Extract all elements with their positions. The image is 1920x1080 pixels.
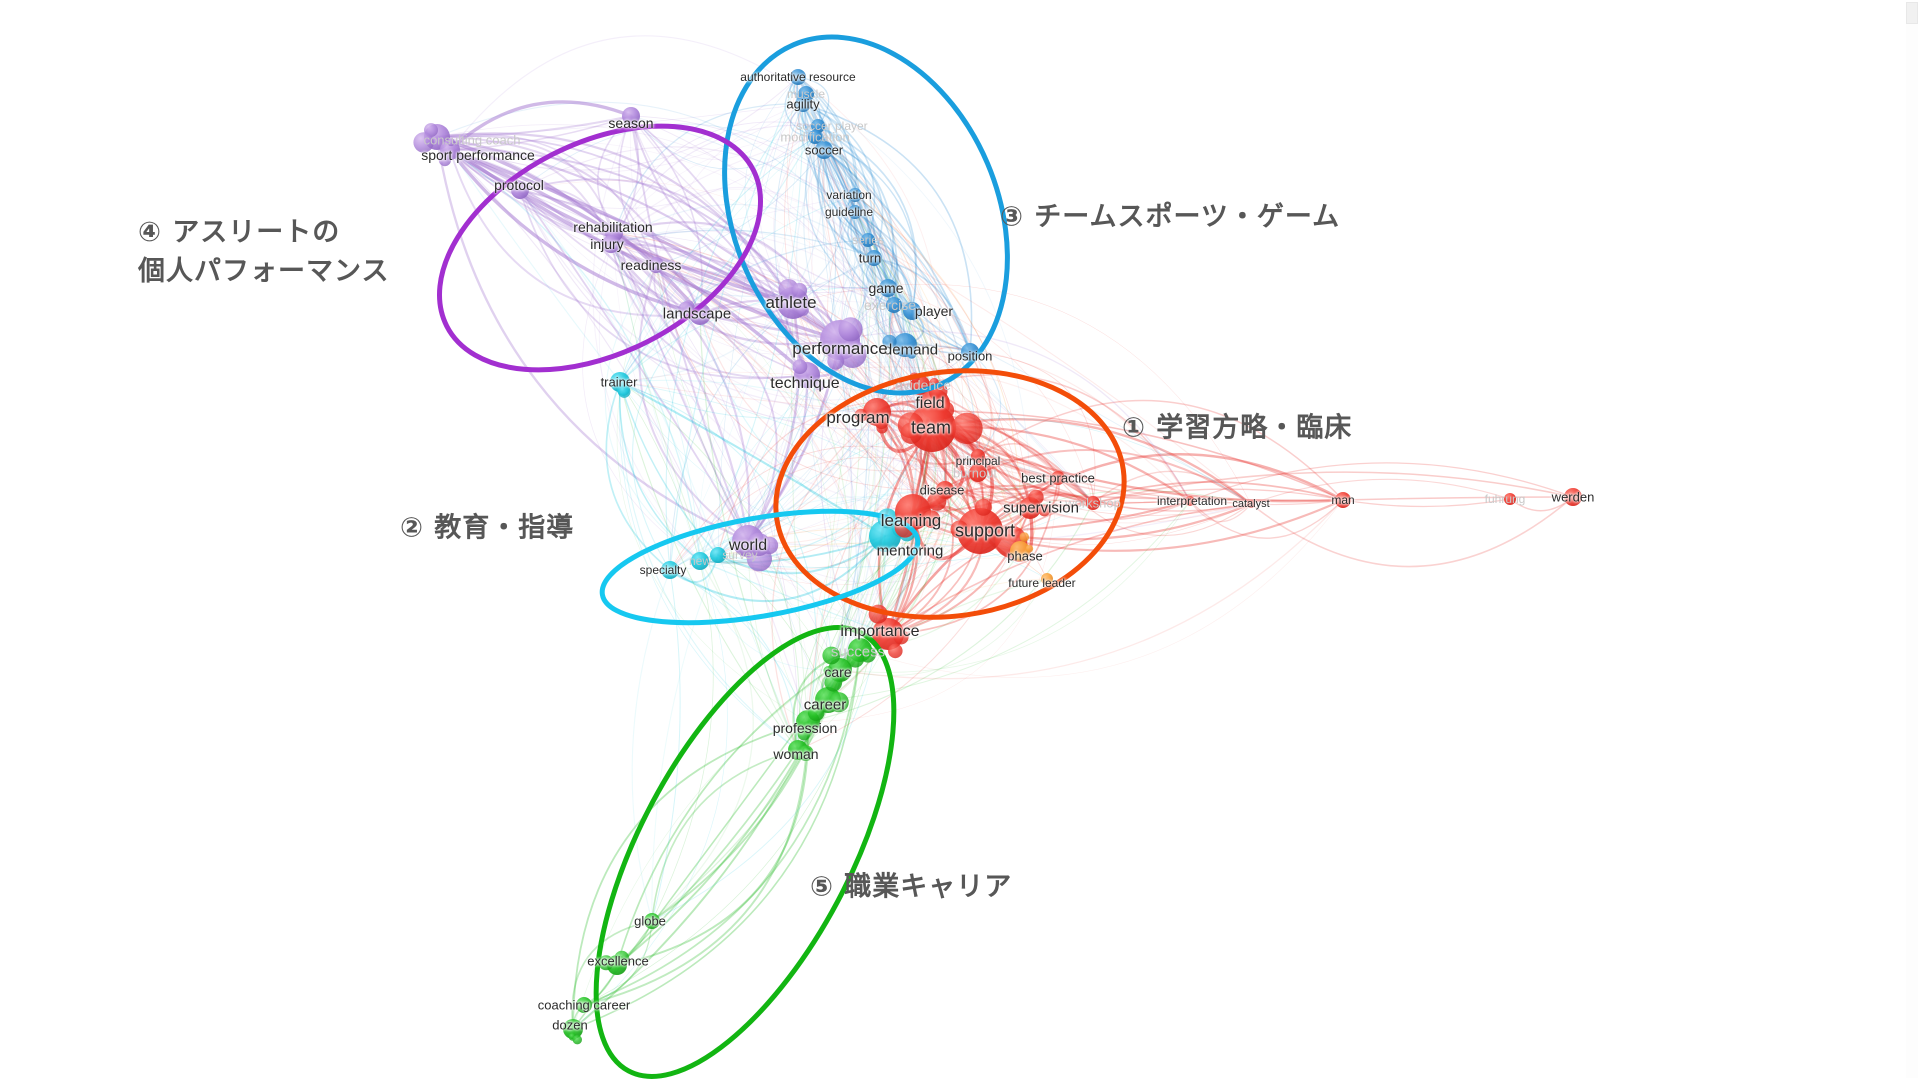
node-label[interactable]: coaching career [538, 998, 631, 1013]
node-label[interactable]: interpretation [1157, 494, 1227, 508]
node-label[interactable]: season [608, 115, 653, 131]
node-label[interactable]: burnout [953, 466, 997, 481]
node-label[interactable]: best practice [1021, 471, 1095, 486]
node-label[interactable]: series [852, 233, 884, 247]
node-label[interactable]: dozen [552, 1018, 587, 1033]
node-label[interactable]: woman [773, 746, 818, 762]
node-label[interactable]: globe [634, 914, 666, 929]
node-label[interactable]: supervision [1003, 500, 1079, 517]
cluster-annotation-1[interactable]: ① 学習方略・臨床 [1122, 408, 1352, 447]
node-label[interactable]: catalyst [1232, 498, 1269, 510]
node-label[interactable]: technique [770, 375, 839, 393]
node-label[interactable]: phase [1007, 549, 1042, 564]
node-label[interactable]: readiness [621, 257, 682, 273]
node-label[interactable]: fuhrung [1485, 492, 1526, 506]
node-label[interactable]: man [1331, 493, 1354, 507]
node-label[interactable]: soccer [805, 143, 843, 158]
node-label[interactable]: mentoring [877, 543, 944, 560]
node-label[interactable]: profession [773, 720, 838, 736]
node-label[interactable]: success [831, 644, 885, 661]
node-label[interactable]: trainer [601, 375, 638, 390]
node-label[interactable]: consulting coach [424, 133, 521, 148]
node-label[interactable]: guideline [825, 205, 873, 219]
cluster-annotation-4[interactable]: ④ アスリートの 個人パフォーマンス [138, 213, 389, 291]
node-label[interactable]: game [868, 280, 903, 296]
node-label[interactable]: demand [884, 342, 938, 359]
node-label[interactable]: authoritative resource [740, 70, 855, 84]
node-label[interactable]: career [804, 697, 847, 714]
node-label[interactable]: rehabilitation [573, 219, 652, 235]
node-label[interactable]: protocol [494, 177, 544, 193]
node-label[interactable]: learning [881, 511, 942, 531]
network-map-canvas[interactable]: authoritative resourcemuscleagilitysocce… [0, 0, 1920, 1080]
node-label[interactable]: player [915, 303, 953, 319]
node-label[interactable]: variation [826, 188, 871, 202]
node-label[interactable]: new [689, 554, 711, 568]
node-label[interactable]: turn [859, 251, 881, 266]
node-label[interactable]: position [948, 349, 993, 364]
node-label[interactable]: specialty [640, 563, 687, 577]
cluster-annotation-5[interactable]: ⑤ 職業キャリア [810, 867, 1012, 906]
node-label[interactable]: werden [1552, 490, 1595, 505]
node-label[interactable]: athlete [765, 293, 816, 313]
node-label[interactable]: field [915, 395, 944, 413]
node-label[interactable]: disease [920, 483, 965, 498]
node-label[interactable]: importance [840, 623, 919, 641]
node-label[interactable]: survey [722, 548, 757, 562]
node-label[interactable]: injury [590, 236, 623, 252]
node-label[interactable]: performance [792, 339, 887, 359]
node-label[interactable]: exercise [864, 297, 916, 313]
cluster-annotation-3[interactable]: ③ チームスポーツ・ゲーム [1000, 197, 1340, 236]
node-label[interactable]: excellence [587, 954, 648, 969]
node-label[interactable]: program [826, 408, 889, 428]
node-label[interactable]: agility [786, 97, 819, 112]
node-label[interactable]: care [824, 664, 851, 680]
node-label[interactable]: landscape [663, 306, 731, 323]
node-label[interactable]: sport performance [421, 147, 535, 163]
node-label[interactable]: support [955, 521, 1015, 542]
cluster-annotation-2[interactable]: ② 教育・指導 [400, 508, 574, 547]
node-label[interactable]: evidence [895, 377, 951, 393]
node-label[interactable]: future leader [1008, 576, 1075, 590]
node-label[interactable]: team [911, 418, 951, 439]
